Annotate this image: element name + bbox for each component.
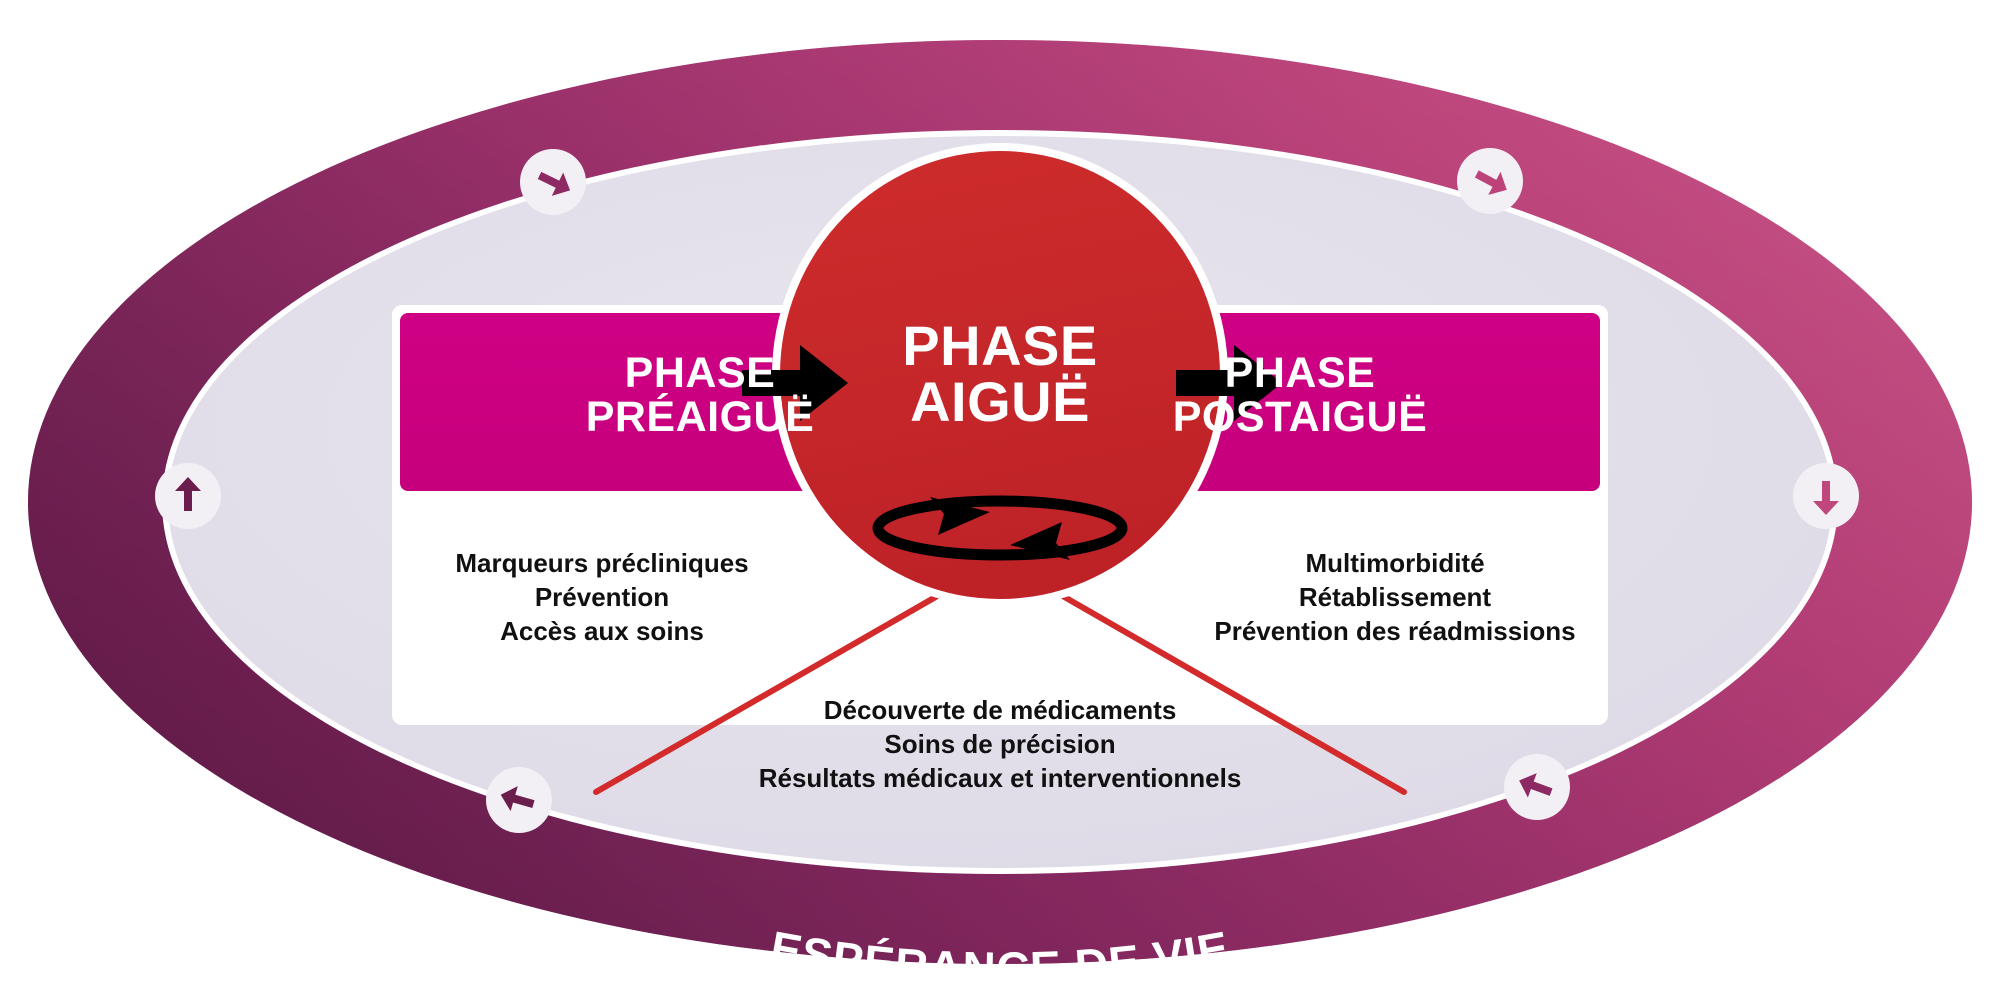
phase-pre-item: Marqueurs précliniques — [402, 547, 802, 581]
phase-acute-item: Découverte de médicaments — [670, 694, 1330, 728]
phase-acute-title-line2: AIGUË — [800, 374, 1200, 430]
phase-acute-item: Soins de précision — [670, 728, 1330, 762]
ring-arrow-left — [155, 463, 221, 529]
phase-acute-items: Découverte de médicaments Soins de préci… — [670, 694, 1330, 795]
ring-arrow-top-right — [1457, 148, 1523, 214]
ring-arrow-right — [1793, 463, 1859, 529]
diagram-canvas: QUALITÉ DE VIE ESPÉRANCE DE VIE — [0, 0, 2000, 1004]
ring-arrow-top-left — [520, 149, 586, 215]
phase-post-item: Prévention des réadmissions — [1180, 615, 1610, 649]
diagram-svg: QUALITÉ DE VIE ESPÉRANCE DE VIE — [0, 0, 2000, 1004]
phase-acute-item: Résultats médicaux et interventionnels — [670, 762, 1330, 796]
phase-acute-title: PHASE AIGUË — [800, 318, 1200, 430]
phase-post-item: Multimorbidité — [1180, 547, 1610, 581]
phase-post-item: Rétablissement — [1180, 581, 1610, 615]
ring-arrow-bottom-right — [1504, 754, 1570, 820]
phase-acute-title-line1: PHASE — [800, 318, 1200, 374]
phase-pre-items: Marqueurs précliniques Prévention Accès … — [402, 547, 802, 648]
phase-pre-item: Accès aux soins — [402, 615, 802, 649]
phase-pre-item: Prévention — [402, 581, 802, 615]
ring-top-label: QUALITÉ DE VIE — [805, 0, 1195, 42]
phase-post-items: Multimorbidité Rétablissement Prévention… — [1180, 547, 1610, 648]
ring-arrow-bottom-left — [486, 767, 552, 833]
